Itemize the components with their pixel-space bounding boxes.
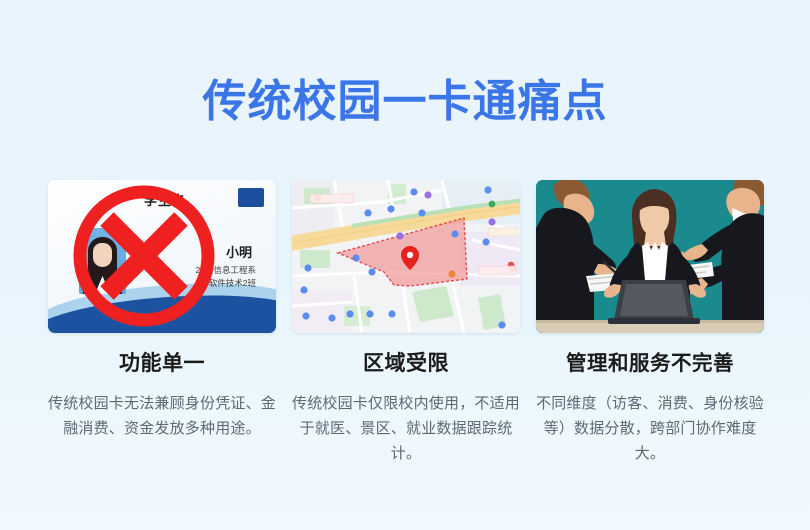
card-heading: 管理和服务不完善 <box>536 351 764 377</box>
pain-point-card-function-single: 学生卡 小明 23级信息工程系 软件技术2班 <box>48 180 276 466</box>
laptop-icon <box>608 280 700 324</box>
pain-point-card-area-restricted: 区域受限 传统校园卡仅限校内使用，不适用于就医、景区、就业数据跟踪统计。 <box>292 180 520 466</box>
card-body-text: 传统校园卡仅限校内使用，不适用于就医、景区、就业数据跟踪统计。 <box>292 391 520 466</box>
prohibition-mark-icon <box>70 182 218 330</box>
office-graphic <box>536 180 764 333</box>
map-illustration <box>292 180 520 333</box>
thumbnail-campus-map <box>292 180 520 333</box>
student-name: 小明 <box>226 242 252 261</box>
cards-row: 学生卡 小明 23级信息工程系 软件技术2班 <box>48 180 764 466</box>
slide-root: 传统校园一卡通痛点 学生卡 小明 <box>0 0 810 530</box>
card-chip-icon <box>238 188 264 207</box>
card-body-text: 不同维度（访客、消费、身份核验等）数据分散，跨部门协作难度大。 <box>536 391 764 466</box>
card-heading: 区域受限 <box>292 351 520 377</box>
student-card-illustration: 学生卡 小明 23级信息工程系 软件技术2班 <box>48 180 276 333</box>
thumbnail-student-id-card: 学生卡 小明 23级信息工程系 软件技术2班 <box>48 180 276 333</box>
office-illustration <box>536 180 764 333</box>
card-body-text: 传统校园卡无法兼顾身份凭证、金融消费、资金发放多种用途。 <box>48 391 276 441</box>
pain-point-card-management-service: 管理和服务不完善 不同维度（访客、消费、身份核验等）数据分散，跨部门协作难度大。 <box>536 180 764 466</box>
card-heading: 功能单一 <box>48 351 276 377</box>
page-title: 传统校园一卡通痛点 <box>0 76 810 128</box>
thumbnail-office-illustration <box>536 180 764 333</box>
map-graphic <box>292 180 520 333</box>
